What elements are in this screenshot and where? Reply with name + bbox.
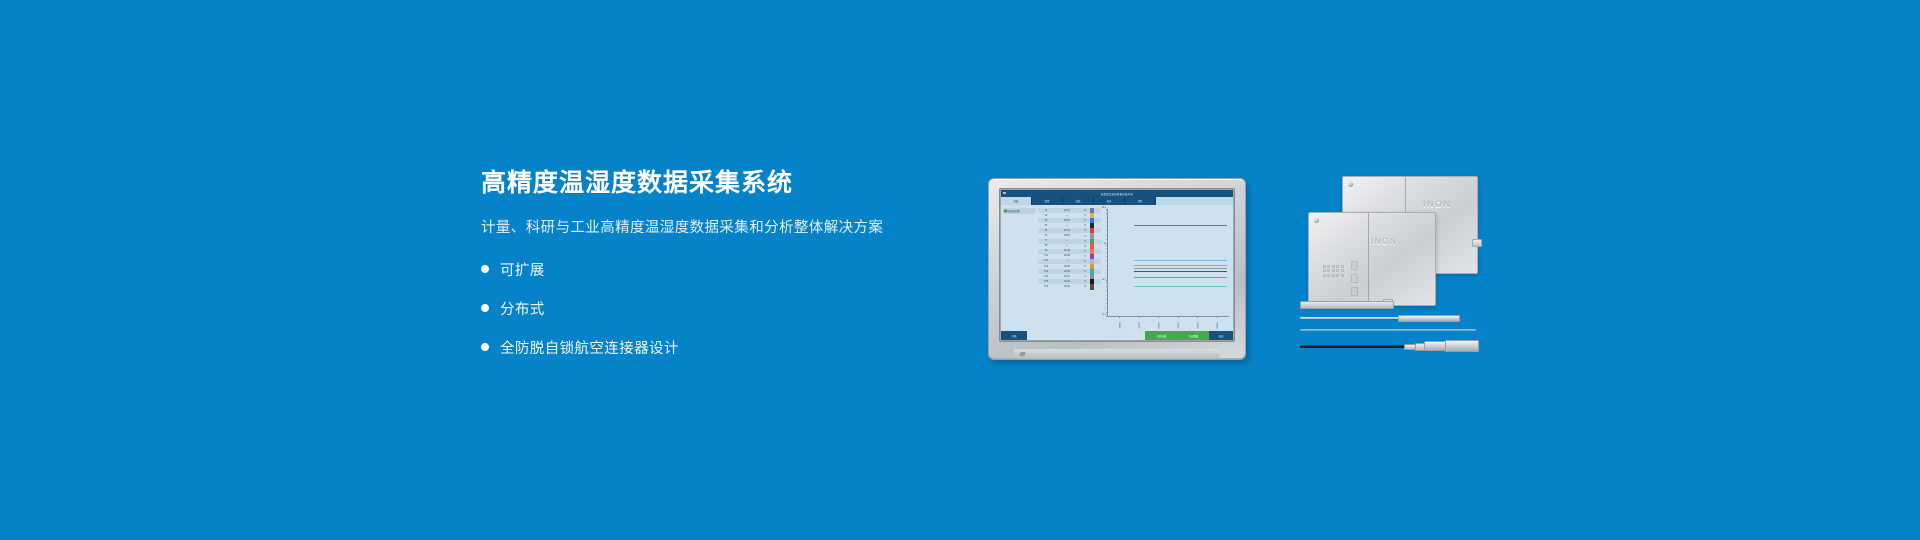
chart-x-tick-label: 10:50:00 bbox=[1216, 322, 1218, 328]
channel-unit: ℃ bbox=[1080, 275, 1090, 278]
channel-value: 25.96 bbox=[1054, 281, 1080, 283]
list-item: 全防脱自锁航空连接器设计 bbox=[481, 337, 951, 358]
probe-sleeve bbox=[1398, 315, 1460, 322]
acquisition-module-product-image: INON INON bbox=[1308, 176, 1478, 308]
chart-y-axis bbox=[1107, 209, 1108, 316]
software-tab-bar: 采集 配置 曲线 报表 帮助 bbox=[1001, 197, 1233, 205]
channel-name: T9 bbox=[1038, 250, 1054, 252]
probe-cable bbox=[1300, 317, 1400, 319]
channel-unit: ℃ bbox=[1080, 229, 1090, 232]
list-item: 分布式 bbox=[481, 298, 951, 319]
bullet-dot-icon bbox=[481, 265, 489, 273]
channel-unit: ℃ bbox=[1080, 219, 1090, 222]
channel-value: --- bbox=[1054, 260, 1080, 262]
channel-name: T10 bbox=[1038, 255, 1054, 257]
brand-logo: INON bbox=[1423, 199, 1452, 209]
channel-color-swatch bbox=[1090, 284, 1094, 289]
software-screen: 高精度温湿度数据采集系统 采集 配置 曲线 报表 帮助 温湿度采集1 bbox=[1001, 190, 1233, 340]
channel-value: 25.94 bbox=[1054, 286, 1080, 288]
table-row[interactable]: T1625.94℃ bbox=[1038, 284, 1101, 289]
channel-name: T7 bbox=[1038, 240, 1054, 242]
channel-unit: ℃ bbox=[1080, 285, 1090, 288]
probe-cable bbox=[1300, 345, 1406, 348]
start-record-button[interactable]: 开始采集 bbox=[1145, 331, 1178, 340]
probe-thin-cable bbox=[1300, 329, 1476, 331]
tab-report[interactable]: 报表 bbox=[1094, 197, 1125, 205]
module-seam bbox=[1368, 213, 1369, 305]
software-title-bar: 高精度温湿度数据采集系统 bbox=[1001, 190, 1233, 197]
chart-x-tick-label: 10:00:00 bbox=[1118, 322, 1120, 328]
channel-name: T11 bbox=[1038, 260, 1054, 262]
window-title: 高精度温湿度数据采集系统 bbox=[1101, 192, 1133, 196]
channel-name: T14 bbox=[1038, 276, 1054, 278]
channel-value: --- bbox=[1054, 225, 1080, 227]
channel-name: T5 bbox=[1038, 230, 1054, 232]
channel-unit: ℃ bbox=[1080, 240, 1090, 243]
tab-curve[interactable]: 曲线 bbox=[1063, 197, 1094, 205]
channel-unit: ℃ bbox=[1080, 270, 1090, 273]
software-body: 温湿度采集1 T125.31℃T2---℃T326.19℃T4---℃T526.… bbox=[1001, 205, 1233, 331]
chart-series-line bbox=[1134, 277, 1227, 278]
chart-series-line bbox=[1134, 271, 1227, 272]
monitor-base bbox=[1014, 349, 1220, 359]
tab-config[interactable]: 配置 bbox=[1032, 197, 1063, 205]
chart-x-axis bbox=[1107, 316, 1229, 317]
feature-label: 可扩展 bbox=[500, 259, 545, 280]
channel-value: 26.19 bbox=[1054, 220, 1080, 222]
module-mount-tab bbox=[1472, 239, 1482, 247]
channel-unit: ℃ bbox=[1080, 265, 1090, 268]
channel-name: T2 bbox=[1038, 215, 1054, 217]
module-connector-grid bbox=[1323, 265, 1344, 277]
channel-unit: ℃ bbox=[1080, 250, 1090, 253]
chart-series-line bbox=[1134, 260, 1227, 261]
exit-button[interactable]: 退出 bbox=[1209, 331, 1233, 340]
channel-name: T13 bbox=[1038, 271, 1054, 273]
banner-subtitle: 计量、科研与工业高精度温湿度数据采集和分析整体解决方案 bbox=[481, 216, 951, 237]
channel-name: T16 bbox=[1038, 286, 1054, 288]
channel-value: --- bbox=[1054, 245, 1080, 247]
monitor-screen-surround: 高精度温湿度数据采集系统 采集 配置 曲线 报表 帮助 温湿度采集1 bbox=[999, 188, 1235, 342]
export-data-button[interactable]: 导出数据 bbox=[1178, 331, 1209, 340]
temperature-probe-product-image bbox=[1300, 315, 1480, 367]
module-edge-strip bbox=[1300, 301, 1394, 309]
channel-value: 26.12 bbox=[1054, 230, 1080, 232]
channel-value: 26.11 bbox=[1054, 276, 1080, 278]
product-banner: 高精度温湿度数据采集系统 计量、科研与工业高精度温湿度数据采集和分析整体解决方案… bbox=[0, 0, 1920, 540]
channel-name: T15 bbox=[1038, 281, 1054, 283]
probe-housing bbox=[1445, 340, 1479, 352]
chart-x-tick-label: 10:40:00 bbox=[1196, 322, 1198, 328]
feature-label: 分布式 bbox=[500, 298, 545, 319]
chart-y-tick-label: 25.5 bbox=[1099, 314, 1106, 316]
chart-series-line bbox=[1134, 268, 1227, 269]
trend-chart: 26.52626.125.510:00:0010:10:0010:20:0010… bbox=[1101, 205, 1233, 331]
chart-series-line bbox=[1134, 286, 1227, 287]
tab-bar-filler bbox=[1156, 197, 1233, 205]
device-tree-label: 温湿度采集1 bbox=[1008, 209, 1021, 213]
page-title: 高精度温湿度数据采集系统 bbox=[481, 170, 951, 198]
software-footer-toolbar: 开始 开始采集 导出数据 退出 bbox=[1001, 331, 1233, 340]
channel-name: T3 bbox=[1038, 220, 1054, 222]
device-tree-panel: 温湿度采集1 bbox=[1001, 205, 1038, 331]
channel-unit: ℃ bbox=[1080, 255, 1090, 258]
tab-help[interactable]: 帮助 bbox=[1125, 197, 1156, 205]
chart-y-tick-label: 26.1 bbox=[1099, 279, 1106, 281]
module-port-column bbox=[1351, 261, 1358, 296]
channel-value: 26.08 bbox=[1054, 255, 1080, 257]
channel-value: --- bbox=[1054, 215, 1080, 217]
channel-name: T8 bbox=[1038, 245, 1054, 247]
module-screw bbox=[1348, 182, 1353, 187]
channel-unit: ℃ bbox=[1080, 245, 1090, 248]
module-front-unit: INON bbox=[1308, 212, 1436, 306]
channel-name: T12 bbox=[1038, 266, 1054, 268]
module-screw bbox=[1314, 218, 1319, 223]
tab-collect[interactable]: 采集 bbox=[1001, 197, 1032, 205]
chart-y-tick-label: 26.5 bbox=[1099, 207, 1106, 209]
brand-logo: INON bbox=[1371, 237, 1397, 246]
channel-table: T125.31℃T2---℃T326.19℃T4---℃T526.12℃T625… bbox=[1038, 205, 1101, 331]
status-led-icon bbox=[1004, 210, 1007, 213]
channel-unit: ℃ bbox=[1080, 280, 1090, 283]
bullet-dot-icon bbox=[481, 343, 489, 351]
panel-pc-product-image: 高精度温湿度数据采集系统 采集 配置 曲线 报表 帮助 温湿度采集1 bbox=[988, 178, 1246, 360]
start-button[interactable]: 开始 bbox=[1001, 331, 1027, 340]
chart-series-line bbox=[1134, 265, 1227, 266]
channel-value: --- bbox=[1054, 240, 1080, 242]
channel-value: 25.87 bbox=[1054, 235, 1080, 237]
feature-label: 全防脱自锁航空连接器设计 bbox=[500, 337, 679, 358]
chart-x-tick-label: 10:30:00 bbox=[1177, 322, 1179, 328]
feature-list: 可扩展 分布式 全防脱自锁航空连接器设计 bbox=[481, 259, 951, 358]
chart-plot-area: 26.52626.125.510:00:0010:10:0010:20:0010… bbox=[1107, 209, 1229, 316]
channel-value: 26.30 bbox=[1054, 250, 1080, 252]
chart-x-tick-label: 10:20:00 bbox=[1157, 322, 1159, 328]
chart-y-tick-label: 26 bbox=[1099, 243, 1106, 245]
channel-unit: ℃ bbox=[1080, 214, 1090, 217]
footer-spacer bbox=[1027, 331, 1145, 340]
bullet-dot-icon bbox=[481, 304, 489, 312]
channel-name: T1 bbox=[1038, 210, 1054, 212]
banner-copy: 高精度温湿度数据采集系统 计量、科研与工业高精度温湿度数据采集和分析整体解决方案… bbox=[481, 170, 951, 376]
channel-value: 25.90 bbox=[1054, 266, 1080, 268]
device-tree-node[interactable]: 温湿度采集1 bbox=[1003, 208, 1036, 214]
channel-name: T6 bbox=[1038, 235, 1054, 237]
channel-unit: ℃ bbox=[1080, 235, 1090, 238]
channel-name: T4 bbox=[1038, 225, 1054, 227]
chart-x-tick-label: 10:10:00 bbox=[1138, 322, 1140, 328]
window-menu-icon bbox=[1003, 192, 1006, 194]
channel-value: 26.28 bbox=[1054, 271, 1080, 273]
channel-value: 25.31 bbox=[1054, 210, 1080, 212]
list-item: 可扩展 bbox=[481, 259, 951, 280]
channel-unit: ℃ bbox=[1080, 224, 1090, 227]
chart-series-line bbox=[1134, 225, 1227, 226]
channel-unit: ℃ bbox=[1080, 209, 1090, 212]
channel-unit: ℃ bbox=[1080, 260, 1090, 263]
